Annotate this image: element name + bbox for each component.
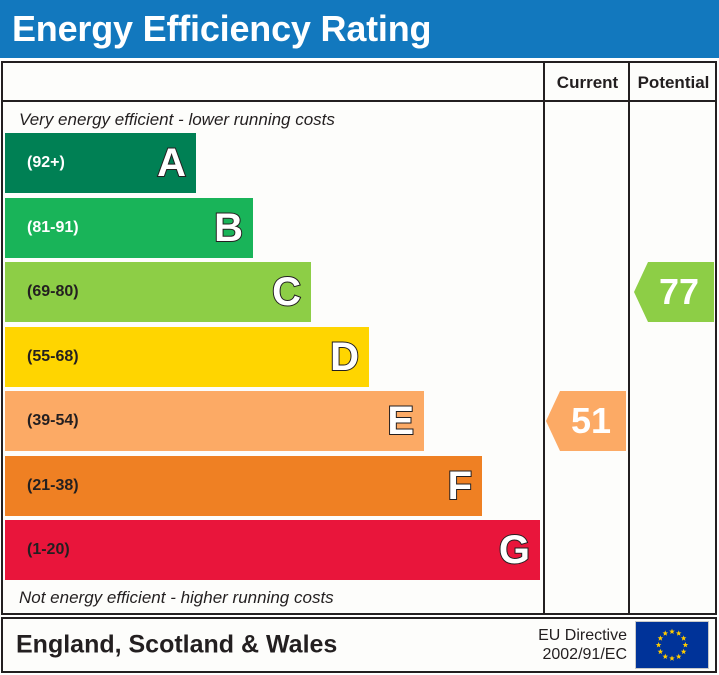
energy-efficiency-rating-chart: Energy Efficiency Rating Current Potenti… xyxy=(0,0,719,675)
band-range-c: (69-80) xyxy=(27,283,79,301)
potential-column-divider xyxy=(628,63,630,613)
band-letter-e: E xyxy=(387,401,414,441)
eu-directive-line-1: EU Directive xyxy=(538,626,627,645)
band-range-f: (21-38) xyxy=(27,477,79,495)
rating-band-c: (69-80)C xyxy=(5,262,311,322)
band-range-e: (39-54) xyxy=(27,412,79,430)
rating-band-d: (55-68)D xyxy=(5,327,369,387)
band-range-a: (92+) xyxy=(27,154,65,172)
region-label: England, Scotland & Wales xyxy=(16,631,337,660)
rating-band-a: (92+)A xyxy=(5,133,196,193)
caption-inefficient: Not energy efficient - higher running co… xyxy=(19,588,334,608)
band-letter-a: A xyxy=(157,143,186,183)
page-title: Energy Efficiency Rating xyxy=(12,6,431,52)
band-letter-b: B xyxy=(214,208,243,248)
current-rating-marker: 51 xyxy=(546,391,626,451)
potential-rating-value: 77 xyxy=(650,273,708,311)
eu-directive-label: EU Directive 2002/91/EC xyxy=(538,626,627,664)
column-header-potential: Potential xyxy=(630,71,717,95)
band-letter-f: F xyxy=(448,466,472,506)
band-range-g: (1-20) xyxy=(27,541,70,559)
band-range-d: (55-68) xyxy=(27,348,79,366)
eu-directive-line-2: 2002/91/EC xyxy=(538,645,627,664)
eu-flag-icon xyxy=(635,621,709,669)
band-letter-g: G xyxy=(499,530,530,570)
rating-bands: (92+)A(81-91)B(69-80)C(55-68)D(39-54)E(2… xyxy=(3,133,543,585)
rating-band-f: (21-38)F xyxy=(5,456,482,516)
band-range-b: (81-91) xyxy=(27,219,79,237)
current-column-divider xyxy=(543,63,545,613)
rating-band-g: (1-20)G xyxy=(5,520,540,580)
rating-table: Current Potential Very energy efficient … xyxy=(1,61,717,615)
caption-efficient: Very energy efficient - lower running co… xyxy=(19,110,335,130)
rating-band-e: (39-54)E xyxy=(5,391,424,451)
band-letter-d: D xyxy=(330,337,359,377)
rating-band-b: (81-91)B xyxy=(5,198,253,258)
header-separator xyxy=(3,100,715,102)
footer-bar: England, Scotland & Wales EU Directive 2… xyxy=(1,617,717,673)
title-bar: Energy Efficiency Rating xyxy=(0,0,719,58)
band-letter-c: C xyxy=(272,272,301,312)
potential-rating-marker: 77 xyxy=(634,262,714,322)
column-header-current: Current xyxy=(545,71,630,95)
current-rating-value: 51 xyxy=(562,402,620,440)
